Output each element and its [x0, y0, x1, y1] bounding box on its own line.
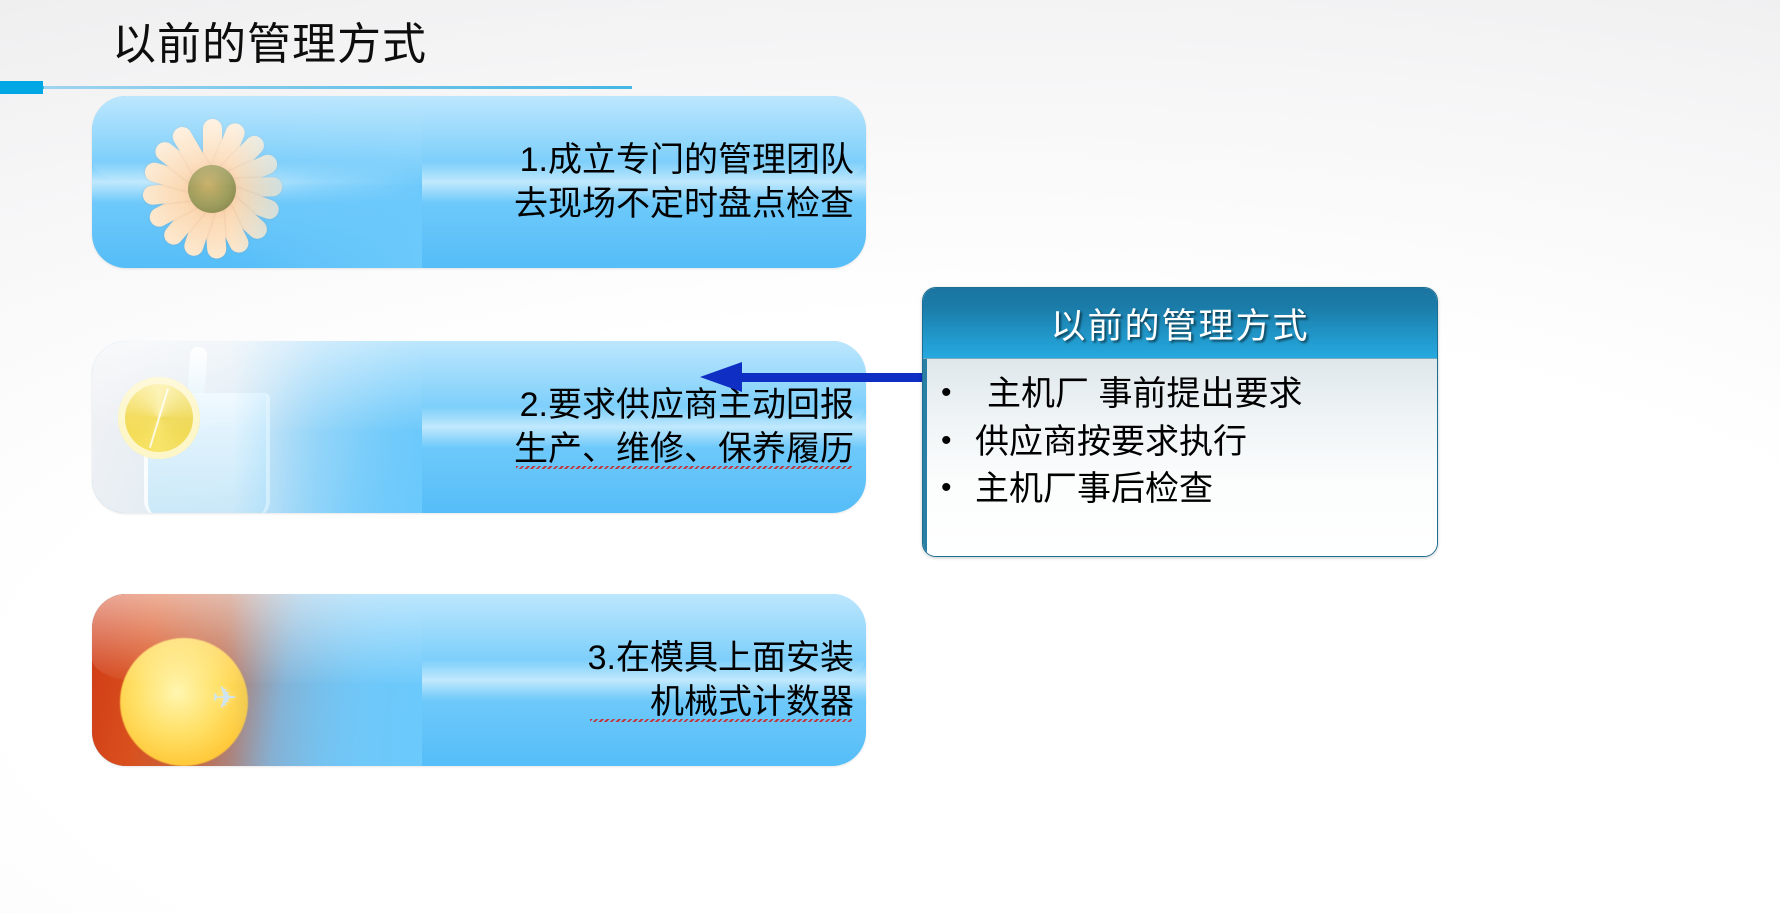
step-card-2-line2: 生产、维修、保养履历: [514, 427, 854, 471]
list-item: • 供应商按要求执行: [941, 419, 1427, 467]
lemon-water-photo: [92, 341, 422, 513]
step-card-1[interactable]: 1.成立专门的管理团队 去现场不定时盘点检查: [92, 96, 866, 268]
flower-photo: [92, 96, 422, 268]
step-card-1-line2: 去现场不定时盘点检查: [514, 182, 854, 226]
callout-body: • 主机厂 事前提出要求 • 供应商按要求执行 • 主机厂事后检查: [923, 359, 1437, 555]
title-underline-rule: [0, 86, 632, 89]
title-accent-block: [0, 81, 43, 94]
list-item: • 主机厂 事前提出要求: [941, 371, 1427, 419]
bullet-glyph: •: [941, 466, 975, 510]
step-card-3[interactable]: ✈ 3.在模具上面安装 机械式计数器: [92, 594, 866, 766]
step-card-1-line1: 1.成立专门的管理团队: [514, 138, 854, 182]
sunset-plane-photo: ✈: [92, 594, 422, 766]
callout-bullet-3: 主机厂事后检查: [975, 466, 1213, 514]
callout-bullet-1: 主机厂 事前提出要求: [975, 371, 1302, 419]
callout-header-title: 以前的管理方式: [1050, 298, 1309, 349]
photo-fade-overlay: [232, 96, 422, 268]
bullet-glyph: •: [941, 371, 975, 415]
step-card-3-line2: 机械式计数器: [588, 680, 854, 724]
step-card-1-text: 1.成立专门的管理团队 去现场不定时盘点检查: [514, 96, 854, 268]
callout-bullet-list: • 主机厂 事前提出要求 • 供应商按要求执行 • 主机厂事后检查: [941, 371, 1427, 514]
bullet-glyph: •: [941, 419, 975, 463]
step-card-3-text: 3.在模具上面安装 机械式计数器: [588, 594, 854, 766]
arrow-head-icon: [700, 362, 742, 392]
callout-bullet-2: 供应商按要求执行: [975, 419, 1247, 467]
photo-fade-overlay: [232, 341, 422, 513]
slide-canvas: 以前的管理方式: [0, 0, 1780, 913]
page-title: 以前的管理方式: [112, 20, 427, 71]
callout-panel: 以前的管理方式 • 主机厂 事前提出要求 • 供应商按要求执行 • 主机厂事后检…: [922, 287, 1438, 557]
callout-header: 以前的管理方式: [923, 288, 1437, 359]
photo-fade-overlay: [232, 594, 422, 766]
arrow-shaft: [738, 373, 932, 382]
step-card-3-line1: 3.在模具上面安装: [588, 636, 854, 680]
list-item: • 主机厂事后检查: [941, 466, 1427, 514]
left-arrow-connector: [700, 362, 932, 392]
